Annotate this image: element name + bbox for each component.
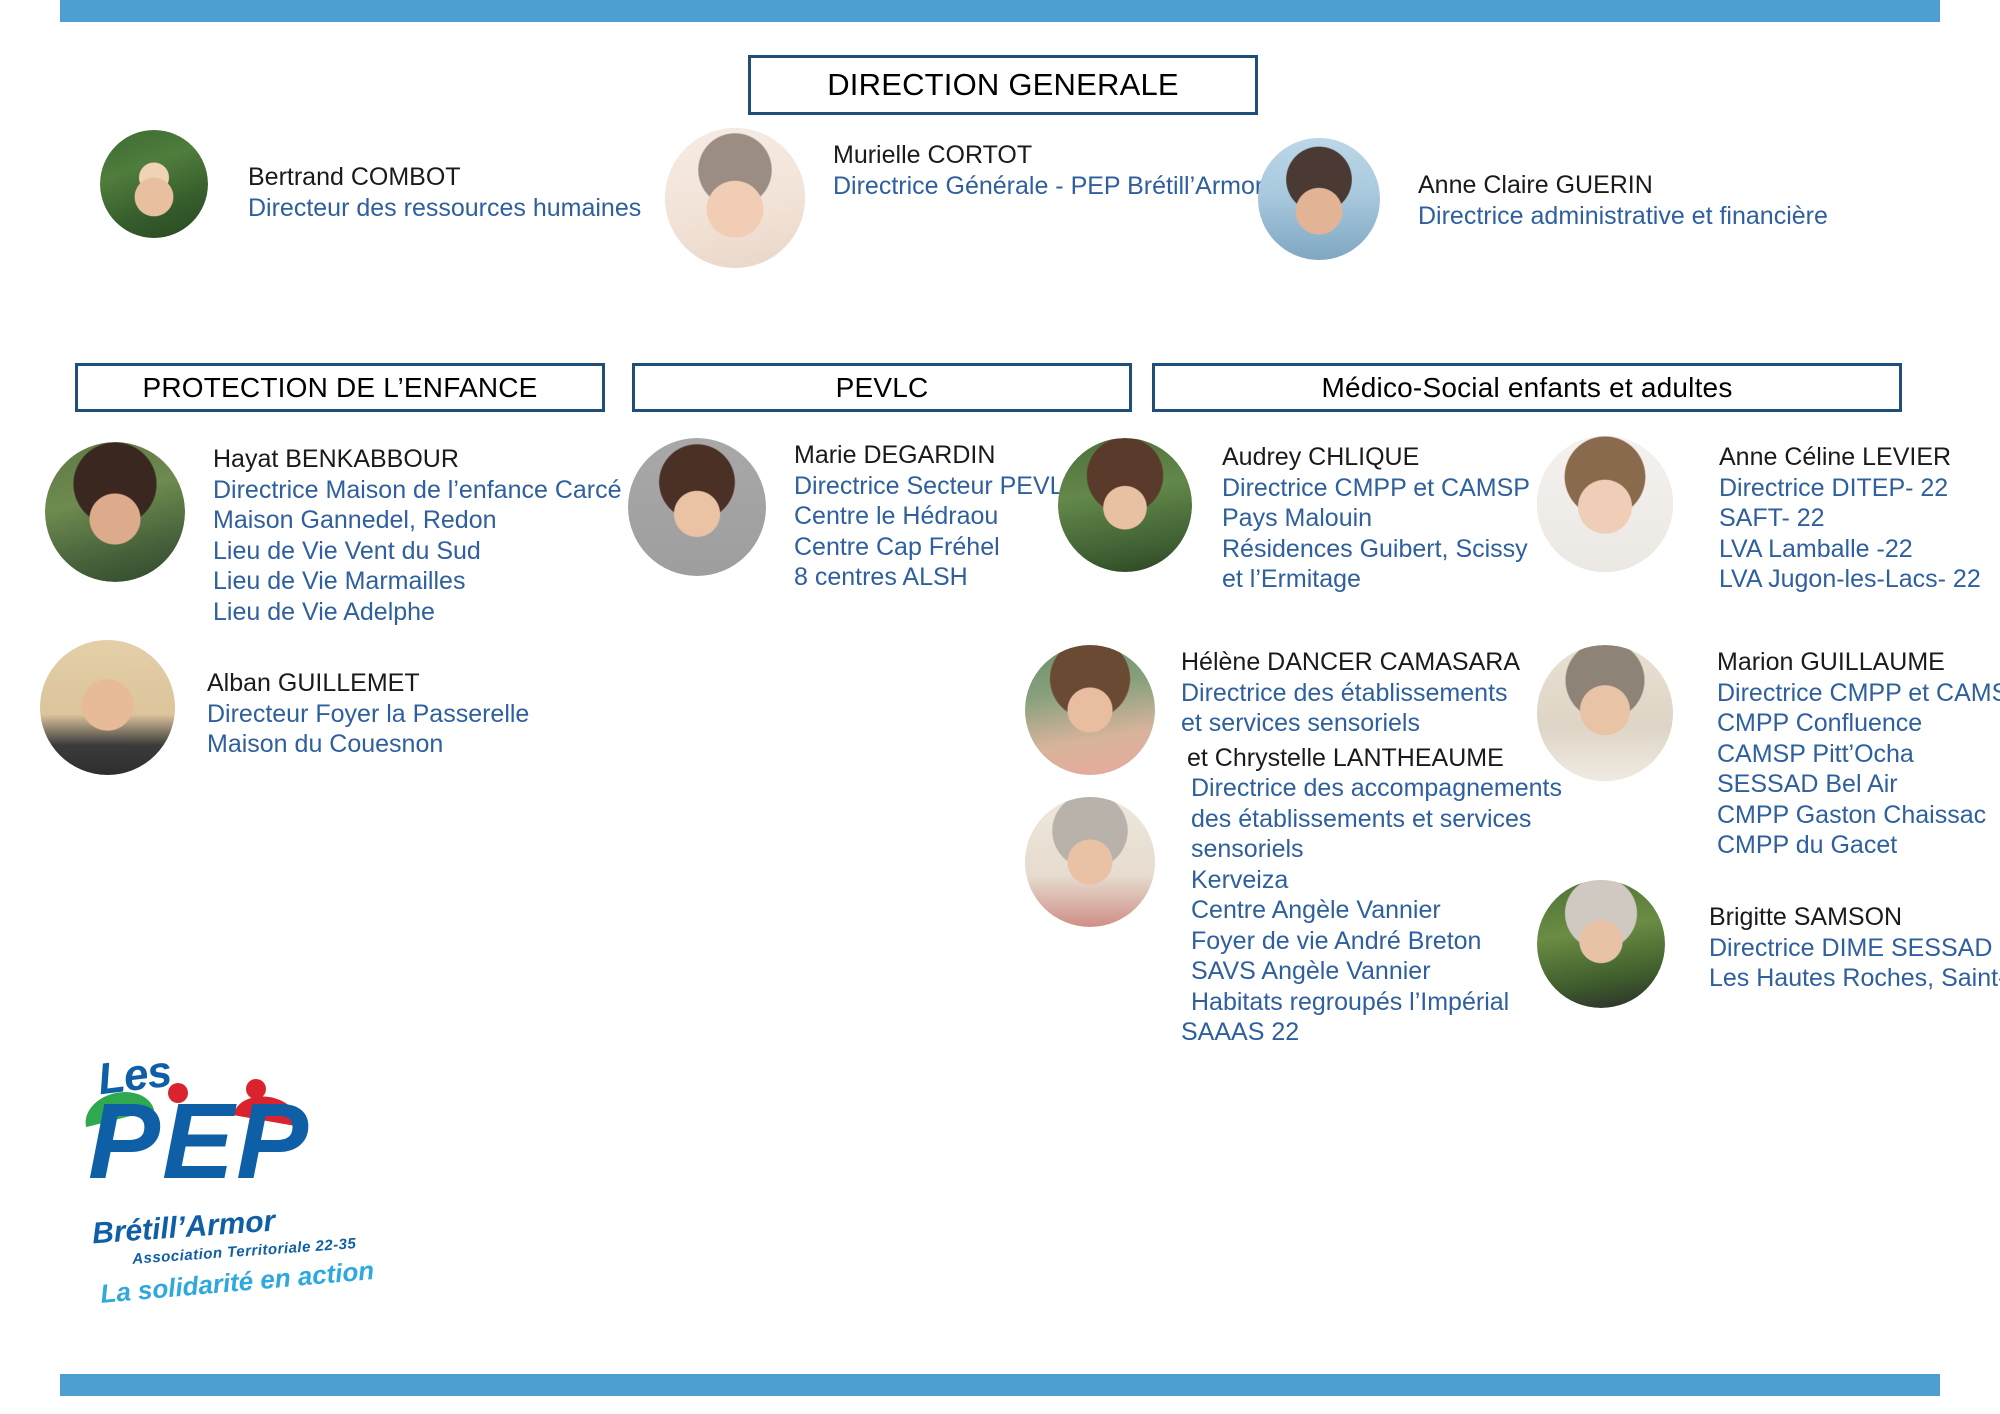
person-role-line: Pays Malouin xyxy=(1222,503,1530,534)
person-text-hayat-benkabbour: Hayat BENKABBOUR Directrice Maison de l’… xyxy=(213,442,622,627)
logo-word-pep: PEP xyxy=(88,1087,310,1195)
organigramme-page: DIRECTION GENERALE Bertrand COMBOT Direc… xyxy=(0,0,2000,1414)
person-text-alban-guillemet: Alban GUILLEMET Directeur Foyer la Passe… xyxy=(207,640,529,760)
helene-dancer-camasara-photo xyxy=(1025,645,1155,775)
person-role-line: Directeur des ressources humaines xyxy=(248,193,641,225)
person-role-line: CMPP Confluence xyxy=(1717,708,2000,739)
person-text-anne-celine-levier: Anne Céline LEVIER Directrice DITEP- 22 … xyxy=(1719,436,1981,595)
person-card-anne-celine-levier: Anne Céline LEVIER Directrice DITEP- 22 … xyxy=(1537,436,1981,595)
person-role-line: 8 centres ALSH xyxy=(794,562,1082,593)
person-role-line: Kerveiza xyxy=(1181,865,1562,896)
person-role-line: Lieu de Vie Vent du Sud xyxy=(213,536,622,567)
marion-guillaume-photo xyxy=(1537,645,1673,781)
person-role-line: LVA Jugon-les-Lacs- 22 xyxy=(1719,564,1981,595)
person-name: Bertrand COMBOT xyxy=(248,162,641,193)
person-role-line: Directrice CMPP et CAMSP xyxy=(1717,678,2000,709)
person-role-line: Centre le Hédraou xyxy=(794,501,1082,532)
section-title-medico-social: Médico-Social enfants et adultes xyxy=(1152,363,1902,412)
person-role-line: des établissements et services xyxy=(1181,804,1562,835)
person-role-line: Lieu de Vie Marmailles xyxy=(213,566,622,597)
person-text-brigitte-samson: Brigitte SAMSON Directrice DIME SESSAD U… xyxy=(1709,880,2000,994)
person-role-line: Directrice DIME SESSAD UEMA xyxy=(1709,933,2000,964)
person-role-line: SESSAD Bel Air xyxy=(1717,769,2000,800)
person-card-brigitte-samson: Brigitte SAMSON Directrice DIME SESSAD U… xyxy=(1537,880,2000,1008)
person-card-anne-claire-guerin: Anne Claire GUERIN Directrice administra… xyxy=(1258,138,1828,260)
person-text-bertrand-combot: Bertrand COMBOT Directeur des ressources… xyxy=(248,130,641,224)
marie-degardin-photo xyxy=(628,438,766,576)
person-role-line: Directrice Maison de l’enfance Carcé xyxy=(213,475,622,506)
person-role-line: CAMSP Pitt’Ocha xyxy=(1717,739,2000,770)
person-card-alban-guillemet: Alban GUILLEMET Directeur Foyer la Passe… xyxy=(40,640,529,775)
person-role-line: et l’Ermitage xyxy=(1222,564,1530,595)
person-role-line: Directrice des établissements xyxy=(1181,678,1562,709)
person-name: Anne Céline LEVIER xyxy=(1719,442,1981,473)
audrey-chlique-photo xyxy=(1058,438,1192,572)
person-role-line: Résidences Guibert, Scissy xyxy=(1222,534,1530,565)
section-title-pevlc: PEVLC xyxy=(632,363,1132,412)
section-title-protection-enfance: PROTECTION DE L’ENFANCE xyxy=(75,363,605,412)
person-role-line: Habitats regroupés l’Impérial xyxy=(1181,987,1562,1018)
person-text-marie-degardin: Marie DEGARDIN Directrice Secteur PEVLC … xyxy=(794,438,1082,593)
bottom-accent-band xyxy=(60,1374,1940,1396)
person-role-line: CMPP du Gacet xyxy=(1717,830,2000,861)
person-name: Brigitte SAMSON xyxy=(1709,902,2000,933)
pep-bretill-armor-logo: Les PEP Brétill’Armor Association Territ… xyxy=(70,1045,360,1305)
top-accent-band xyxy=(60,0,1940,22)
person-role-line: SAAAS 22 xyxy=(1181,1017,1562,1048)
person-name: Hayat BENKABBOUR xyxy=(213,444,622,475)
person-text-anne-claire-guerin: Anne Claire GUERIN Directrice administra… xyxy=(1418,138,1828,232)
bertrand-combot-photo xyxy=(100,130,208,238)
person-name: Audrey CHLIQUE xyxy=(1222,442,1530,473)
person-name-secondary: et Chrystelle LANTHEAUME xyxy=(1181,743,1562,774)
brigitte-samson-photo xyxy=(1537,880,1665,1008)
person-text-helene-et-chrystelle: Hélène DANCER CAMASARA Directrice des ét… xyxy=(1181,645,1562,1048)
person-role-line: Foyer de vie André Breton xyxy=(1181,926,1562,957)
dual-avatar-stack xyxy=(1025,645,1155,927)
person-text-audrey-chlique: Audrey CHLIQUE Directrice CMPP et CAMSP … xyxy=(1222,438,1530,595)
person-card-helene-dancer-camasara: Hélène DANCER CAMASARA Directrice des ét… xyxy=(1025,645,1562,1048)
anne-claire-guerin-photo xyxy=(1258,138,1380,260)
person-card-bertrand-combot: Bertrand COMBOT Directeur des ressources… xyxy=(100,130,641,238)
person-card-marion-guillaume: Marion GUILLAUME Directrice CMPP et CAMS… xyxy=(1537,645,2000,861)
alban-guillemet-photo xyxy=(40,640,175,775)
person-card-marie-degardin: Marie DEGARDIN Directrice Secteur PEVLC … xyxy=(628,438,1082,593)
person-card-hayat-benkabbour: Hayat BENKABBOUR Directrice Maison de l’… xyxy=(45,442,622,627)
person-name: Alban GUILLEMET xyxy=(207,668,529,699)
chrystelle-lantheaume-photo xyxy=(1025,797,1155,927)
person-role-line: Directrice Secteur PEVLC xyxy=(794,471,1082,502)
anne-celine-levier-photo xyxy=(1537,436,1673,572)
person-role-line: Directrice CMPP et CAMSP xyxy=(1222,473,1530,504)
person-name: Anne Claire GUERIN xyxy=(1418,170,1828,201)
person-name: Marion GUILLAUME xyxy=(1717,647,2000,678)
direction-generale-title: DIRECTION GENERALE xyxy=(748,55,1258,115)
person-card-audrey-chlique: Audrey CHLIQUE Directrice CMPP et CAMSP … xyxy=(1058,438,1530,595)
person-text-murielle-cortot: Murielle CORTOT Directrice Générale - PE… xyxy=(833,128,1263,202)
person-role-line: SAVS Angèle Vannier xyxy=(1181,956,1562,987)
person-card-murielle-cortot: Murielle CORTOT Directrice Générale - PE… xyxy=(665,128,1263,268)
person-role-line: sensoriels xyxy=(1181,834,1562,865)
person-role-line: Lieu de Vie Adelphe xyxy=(213,597,622,628)
person-text-marion-guillaume: Marion GUILLAUME Directrice CMPP et CAMS… xyxy=(1717,645,2000,861)
person-role-line: Directeur Foyer la Passerelle xyxy=(207,699,529,730)
person-role-line: Directrice des accompagnements xyxy=(1181,773,1562,804)
person-role-line: Directrice Générale - PEP Brétill’Armor xyxy=(833,171,1263,203)
person-name: Marie DEGARDIN xyxy=(794,440,1082,471)
person-role-line: Directrice administrative et financière xyxy=(1418,201,1828,233)
person-name: Murielle CORTOT xyxy=(833,140,1263,171)
murielle-cortot-photo xyxy=(665,128,805,268)
person-role-line: Maison Gannedel, Redon xyxy=(213,505,622,536)
person-role-line: CMPP Gaston Chaissac xyxy=(1717,800,2000,831)
person-role-line: Maison du Couesnon xyxy=(207,729,529,760)
person-role-line: LVA Lamballe -22 xyxy=(1719,534,1981,565)
person-role-line: Directrice DITEP- 22 xyxy=(1719,473,1981,504)
person-role-line: et services sensoriels xyxy=(1181,708,1562,739)
hayat-benkabbour-photo xyxy=(45,442,185,582)
person-role-line: SAFT- 22 xyxy=(1719,503,1981,534)
person-name: Hélène DANCER CAMASARA xyxy=(1181,647,1562,678)
person-role-line: Les Hautes Roches, Saint-Malo xyxy=(1709,963,2000,994)
person-role-line: Centre Angèle Vannier xyxy=(1181,895,1562,926)
person-role-line: Centre Cap Fréhel xyxy=(794,532,1082,563)
